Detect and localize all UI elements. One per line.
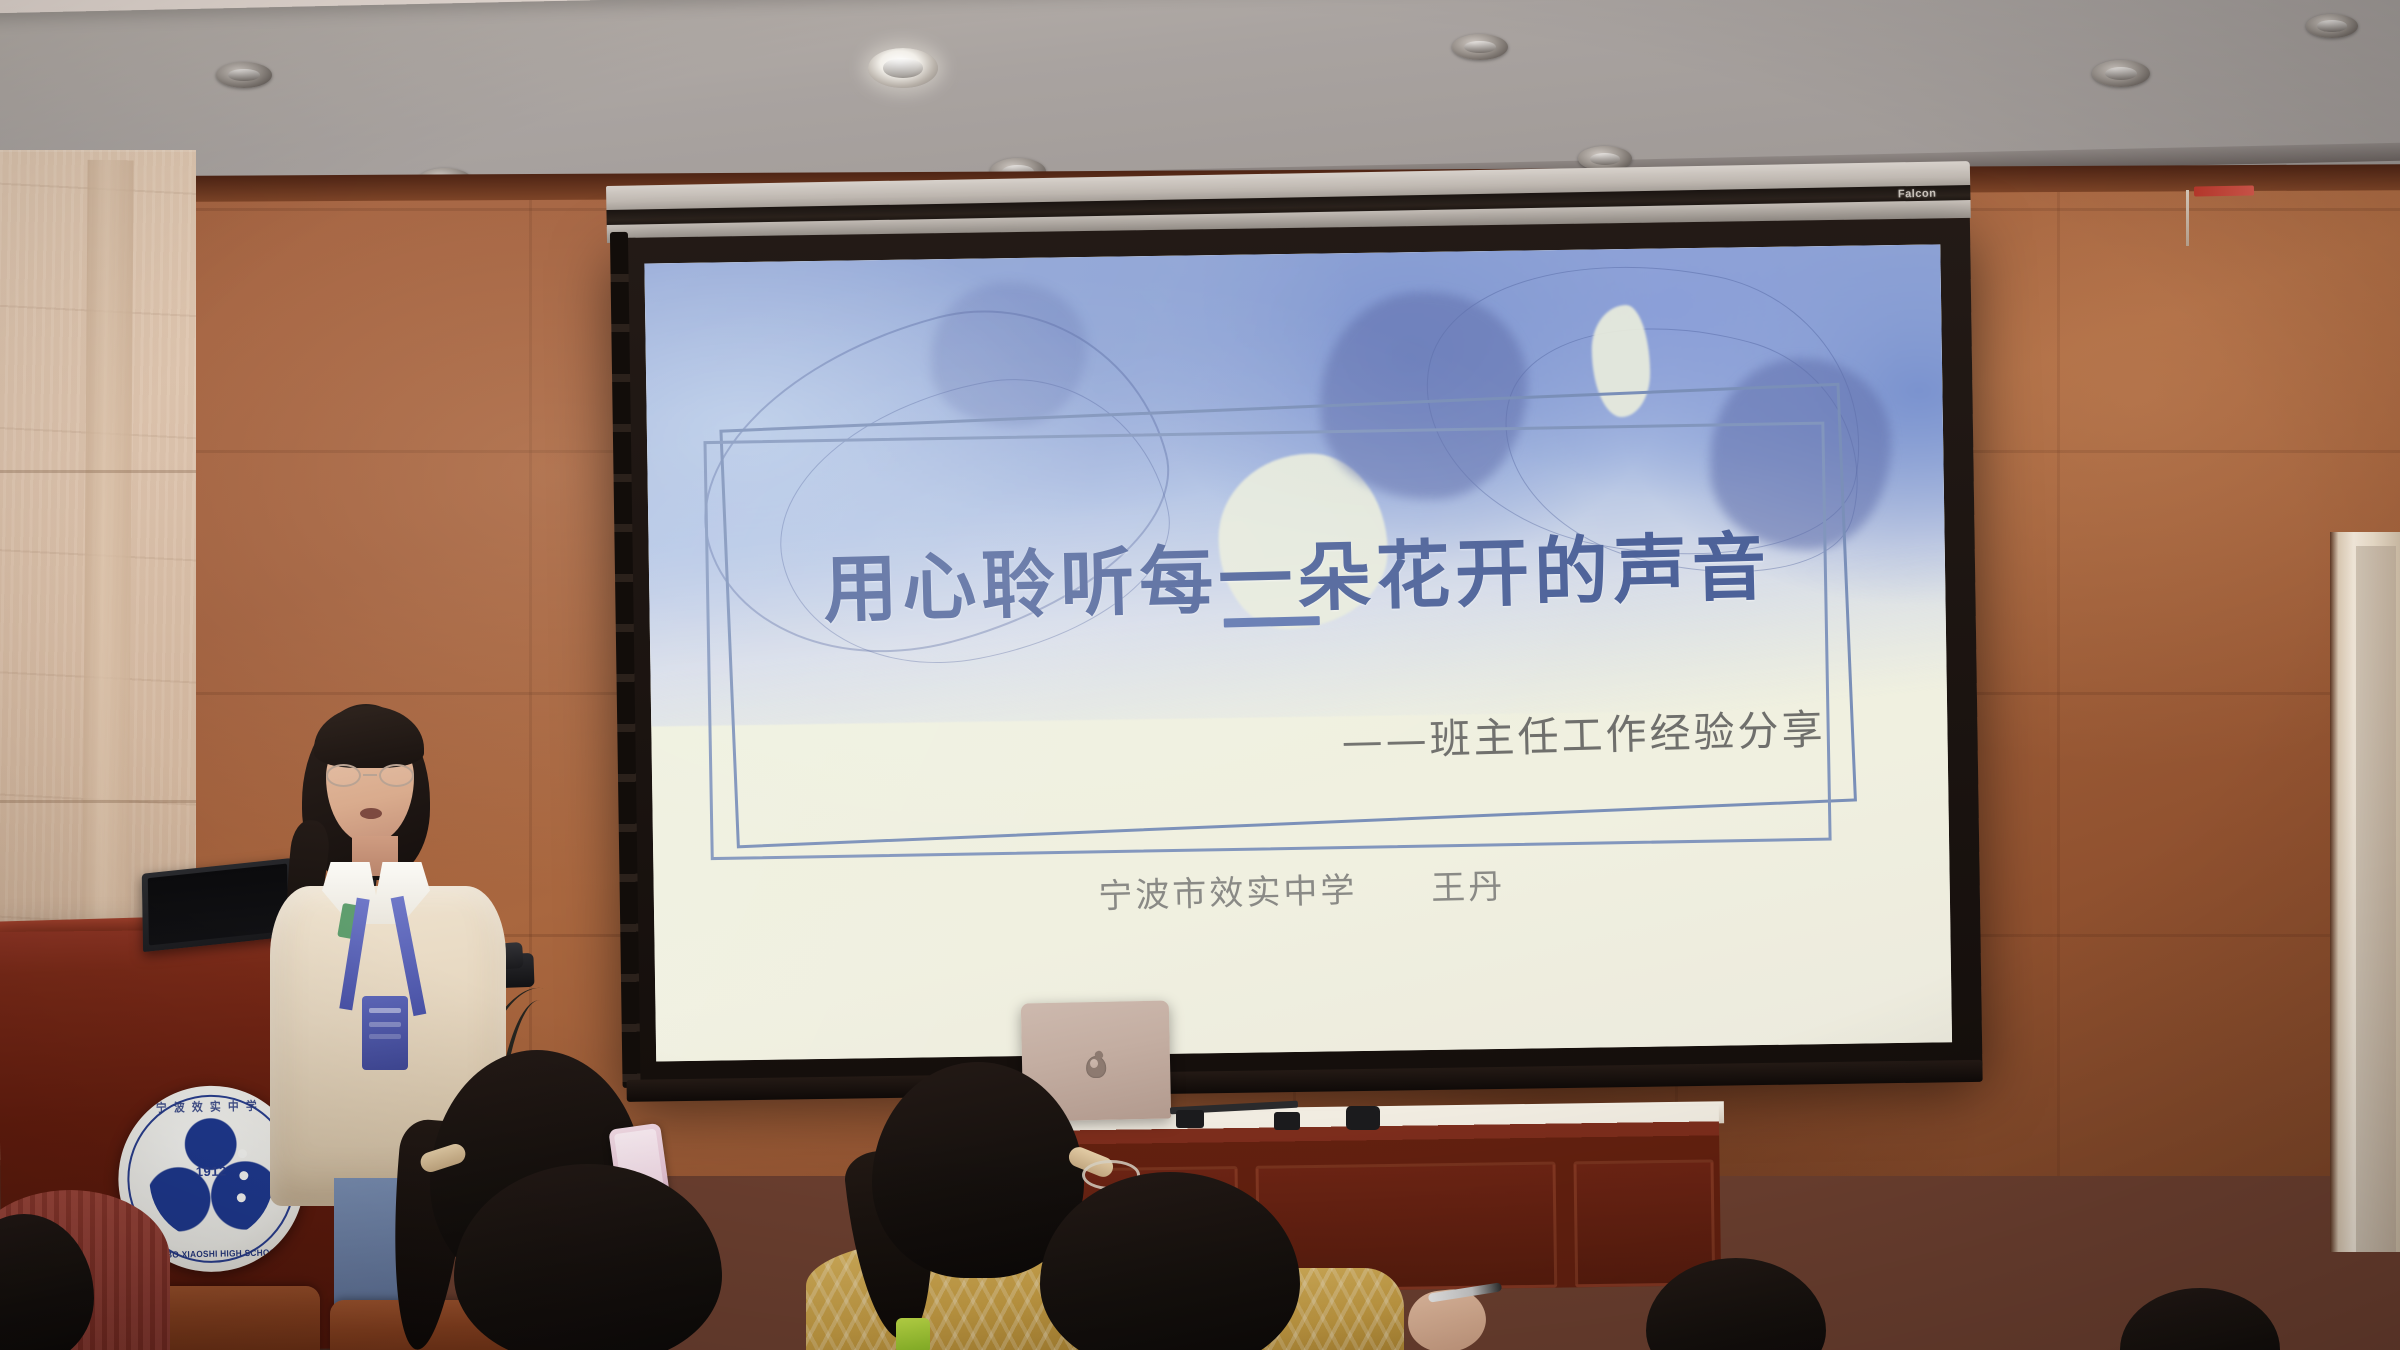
slide-decorative-frame-inner <box>703 422 1831 860</box>
attendee-head <box>2120 1288 2280 1350</box>
right-wall-door <box>2330 532 2400 1252</box>
stone-seam <box>0 470 196 473</box>
ceiling-downlight <box>216 62 272 88</box>
screen-surface: 用心聆听每一朵花开的声音 ——班主任工作经验分享 宁波市效实中学 王丹 <box>644 244 1952 1061</box>
desk-remote[interactable] <box>1274 1112 1300 1130</box>
projector-brand-label: Falcon <box>1898 188 1937 201</box>
slide-subtitle: ——班主任工作经验分享 <box>1341 695 1826 767</box>
slide-presenter-credit: 宁波市效实中学 王丹 <box>653 849 1950 930</box>
presentation-photo-scene: Falcon 用心聆听每一朵花开的声音 ——班主任工作经验分享 宁波市效 <box>0 0 2400 1350</box>
hanging-wire <box>2186 190 2189 246</box>
green-bottle-cap[interactable] <box>896 1318 930 1350</box>
projection-screen: 用心聆听每一朵花开的声音 ——班主任工作经验分享 宁波市效实中学 王丹 <box>614 218 1982 1086</box>
desk-clicker[interactable] <box>1346 1106 1380 1130</box>
ceiling-downlight-lit <box>868 48 938 88</box>
ceiling-downlight <box>2306 14 2358 38</box>
presenter-fringe <box>314 706 424 768</box>
fluid-dark-swirl <box>930 281 1088 427</box>
presentation-slide: 用心聆听每一朵花开的声音 ——班主任工作经验分享 宁波市效实中学 王丹 <box>644 244 1952 1061</box>
presenter-id-badge <box>362 996 408 1070</box>
apple-logo-icon <box>1086 1056 1106 1078</box>
presenter-mouth <box>360 808 382 819</box>
ceiling-downlight <box>1452 34 1508 60</box>
stone-seam <box>0 800 196 803</box>
presenter-glasses <box>324 764 416 788</box>
desk-remote[interactable] <box>1176 1110 1204 1128</box>
ceiling-downlight <box>2092 60 2150 87</box>
wall-red-marking <box>2194 185 2254 196</box>
